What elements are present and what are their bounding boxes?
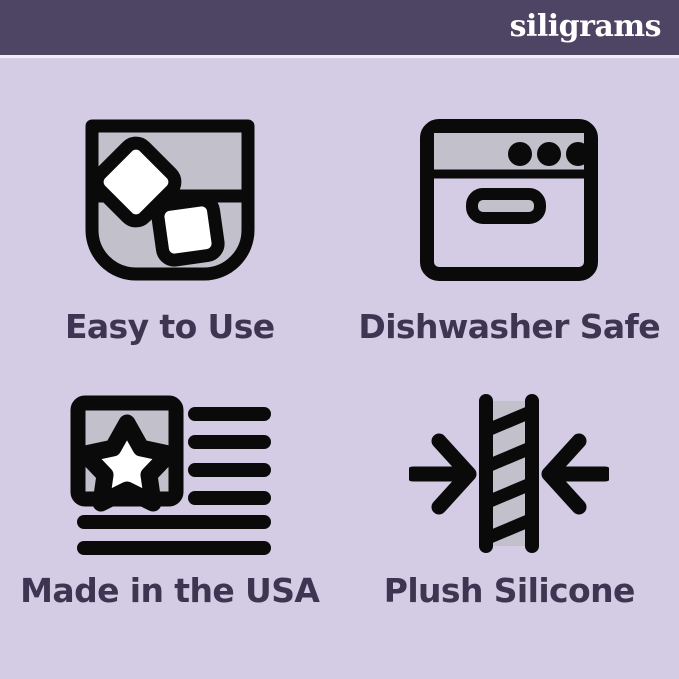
compression-arrows-icon <box>409 391 609 556</box>
feature-grid: Easy to Use Dishwasher Sa <box>0 58 679 679</box>
usa-flag-star-icon <box>62 391 277 556</box>
feature-label-plush-silicone: Plush Silicone <box>384 574 635 609</box>
feature-item-easy-to-use: Easy to Use <box>0 64 340 365</box>
product-feature-graphic: siligrams <box>0 0 679 679</box>
feature-label-made-in-the-usa: Made in the USA <box>20 574 319 609</box>
feature-label-dishwasher-safe: Dishwasher Safe <box>358 310 660 345</box>
brand-header-bar: siligrams <box>0 0 679 55</box>
feature-label-easy-to-use: Easy to Use <box>65 310 275 345</box>
feature-item-dishwasher-safe: Dishwasher Safe <box>340 64 679 365</box>
feature-item-made-in-the-usa: Made in the USA <box>0 365 340 666</box>
brand-logo-text: siligrams <box>510 12 661 42</box>
dishwasher-icon <box>409 112 609 292</box>
feature-item-plush-silicone: Plush Silicone <box>340 365 679 666</box>
glass-with-ice-cubes-icon <box>70 112 270 292</box>
